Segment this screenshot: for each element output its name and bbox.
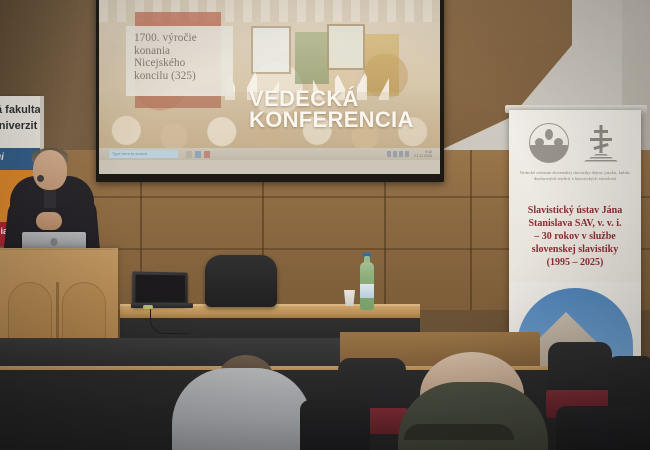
slide-text-line-1: 1700. výročie <box>134 32 227 45</box>
slide-text-box: 1700. výročie konania Nicejského koncilu… <box>126 26 233 96</box>
speaker-head <box>33 150 67 190</box>
fresco-window <box>327 24 365 70</box>
auditorium-chair <box>556 406 650 450</box>
paper-cup <box>344 290 355 306</box>
banner-main-line-4: slovenskej slavistiky <box>515 243 635 256</box>
banner-main-line-5: (1995 – 2025) <box>515 256 635 269</box>
triple-cross-book-icon <box>581 123 621 163</box>
speaker-hands <box>36 212 62 230</box>
audience-back-wall-dark <box>0 338 340 368</box>
slide-headline-line-2: KONFERENCIA <box>249 109 439 130</box>
slide-text-line-4: koncilu (325) <box>134 70 227 83</box>
desk-accessory <box>143 305 153 309</box>
tray-icon-chevron[interactable] <box>387 151 391 157</box>
banner-main-line-3: – 30 rokov v službe <box>515 230 635 243</box>
left-banner-line-2: univerzit <box>0 120 37 132</box>
apple-logo-icon <box>51 238 58 246</box>
tray-icon-volume[interactable] <box>399 151 403 157</box>
projection-screen: 1700. výročie konania Nicejského koncilu… <box>99 0 440 174</box>
office-chair <box>205 255 277 307</box>
banner-main-text: Slavistický ústav Jána Stanislava SAV, v… <box>515 204 635 269</box>
auditorium-chair <box>300 400 370 450</box>
slavistics-institute-emblem-icon <box>529 123 569 163</box>
slide-headline: VEDECKÁ KONFERENCIA <box>249 88 439 130</box>
conference-hall-photo: 1700. výročie konania Nicejského koncilu… <box>0 0 650 450</box>
bottle-label <box>360 284 374 298</box>
system-tray[interactable]: 9:42 21.11.2025 <box>387 150 432 158</box>
tray-icon-battery[interactable] <box>405 151 409 157</box>
slide-text-line-3: Nicejského <box>134 57 227 70</box>
presentation-slide: 1700. výročie konania Nicejského koncilu… <box>99 0 440 156</box>
taskbar-icon-explorer[interactable] <box>195 151 201 158</box>
slide-headline-line-1: VEDECKÁ <box>249 88 439 109</box>
fresco-green-area <box>295 32 329 84</box>
clock-date: 21.11.2025 <box>414 154 432 158</box>
windows-taskbar[interactable]: Type here to search 9:42 21.11.2025 <box>99 148 440 160</box>
left-banner-orange-text: gi <box>0 152 4 163</box>
taskbar-search-input[interactable]: Type here to search <box>109 150 178 158</box>
banner-main-line-1: Slavistický ústav Jána <box>515 204 635 217</box>
taskbar-app-icons[interactable] <box>186 151 210 158</box>
tray-icon-network[interactable] <box>393 151 397 157</box>
microphone-head <box>37 175 44 182</box>
taskbar-clock[interactable]: 9:42 21.11.2025 <box>414 150 432 158</box>
attendee-gray-shirt <box>172 368 312 450</box>
banner-main-line-2: Stanislava SAV, v. v. i. <box>515 217 635 230</box>
laptop-on-table <box>132 271 187 306</box>
laptop-cable <box>150 307 189 334</box>
fresco-window <box>251 26 291 74</box>
left-banner-line-1: á fakulta <box>0 104 40 116</box>
taskbar-icon-powerpoint[interactable] <box>204 151 210 158</box>
slide-text-line-2: konania <box>134 45 227 58</box>
taskbar-icon-task-view[interactable] <box>186 151 192 158</box>
banner-subtitle: Vedecké centrum slovenskej slavistiky de… <box>519 170 631 183</box>
panel-seam <box>470 150 472 310</box>
screen-blank-area <box>99 160 440 174</box>
banner-logos <box>523 120 627 166</box>
attendee-collar <box>404 424 514 440</box>
